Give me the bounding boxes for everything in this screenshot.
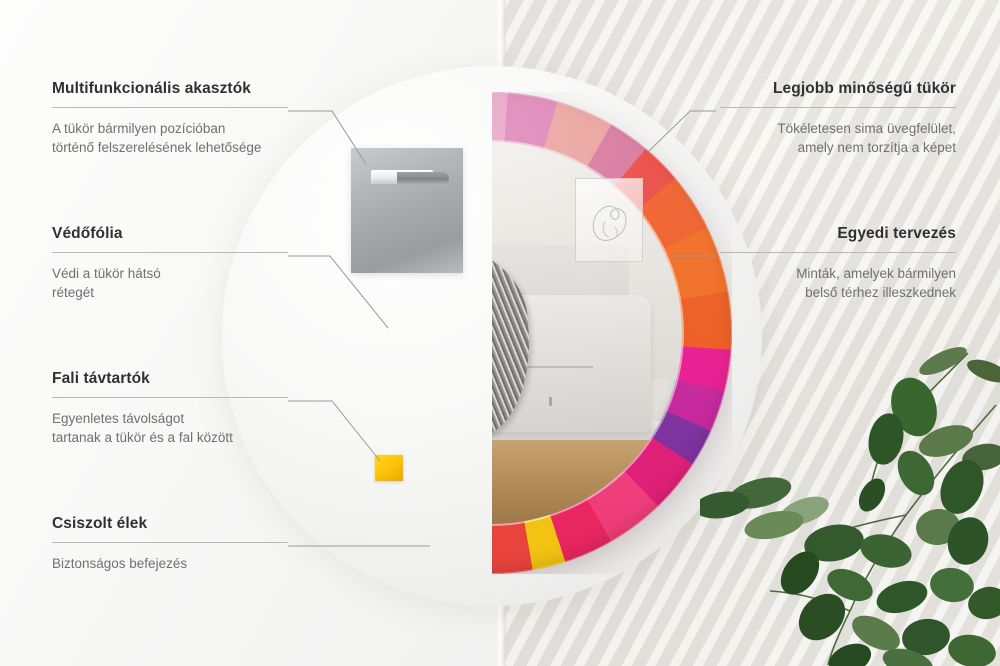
callout-polished-edges: Csiszolt élek Biztonságos befejezés <box>52 515 288 573</box>
callout-best-quality-mirror: Legjobb minőségű tükör Tökéletesen sima … <box>720 80 956 157</box>
callout-body: Minták, amelyek bármilyen belső térhez i… <box>720 264 956 302</box>
callout-wall-spacers: Fali távtartók Egyenletes távolságot tar… <box>52 370 288 447</box>
callout-title: Fali távtartók <box>52 370 288 388</box>
hanger-plate <box>351 148 463 273</box>
callout-rule <box>52 542 288 543</box>
callout-title: Legjobb minőségű tükör <box>720 80 956 98</box>
callout-rule <box>720 107 956 108</box>
callout-body: Védi a tükör hátsó rétegét <box>52 264 288 302</box>
callout-rule <box>52 252 288 253</box>
wall-spacer-block <box>375 455 403 481</box>
callout-protective-film: Védőfólia Védi a tükör hátsó rétegét <box>52 225 288 302</box>
infographic-canvas: Multifunkcionális akasztók A tükör bármi… <box>0 0 1000 666</box>
callout-rule <box>720 252 956 253</box>
hanger-bracket-icon <box>397 172 449 185</box>
callout-multifunctional-hangers: Multifunkcionális akasztók A tükör bármi… <box>52 80 288 157</box>
callout-unique-design: Egyedi tervezés Minták, amelyek bármilye… <box>720 225 956 302</box>
callout-body: A tükör bármilyen pozícióban történő fel… <box>52 119 288 157</box>
wall-art-frame <box>575 178 643 262</box>
callout-rule <box>52 107 288 108</box>
line-art-sketch-icon <box>576 179 642 261</box>
mirror-clip <box>492 92 732 574</box>
callout-title: Egyedi tervezés <box>720 225 956 243</box>
callout-body: Biztonságos befejezés <box>52 554 288 573</box>
callout-rule <box>52 397 288 398</box>
round-mirror <box>492 92 732 574</box>
foreground-plant <box>700 345 1000 666</box>
callout-body: Egyenletes távolságot tartanak a tükör é… <box>52 409 288 447</box>
callout-title: Védőfólia <box>52 225 288 243</box>
callout-body: Tökéletesen sima üvegfelület, amely nem … <box>720 119 956 157</box>
plant-leaves-icon <box>700 345 1000 666</box>
callout-title: Csiszolt élek <box>52 515 288 533</box>
callout-title: Multifunkcionális akasztók <box>52 80 288 98</box>
